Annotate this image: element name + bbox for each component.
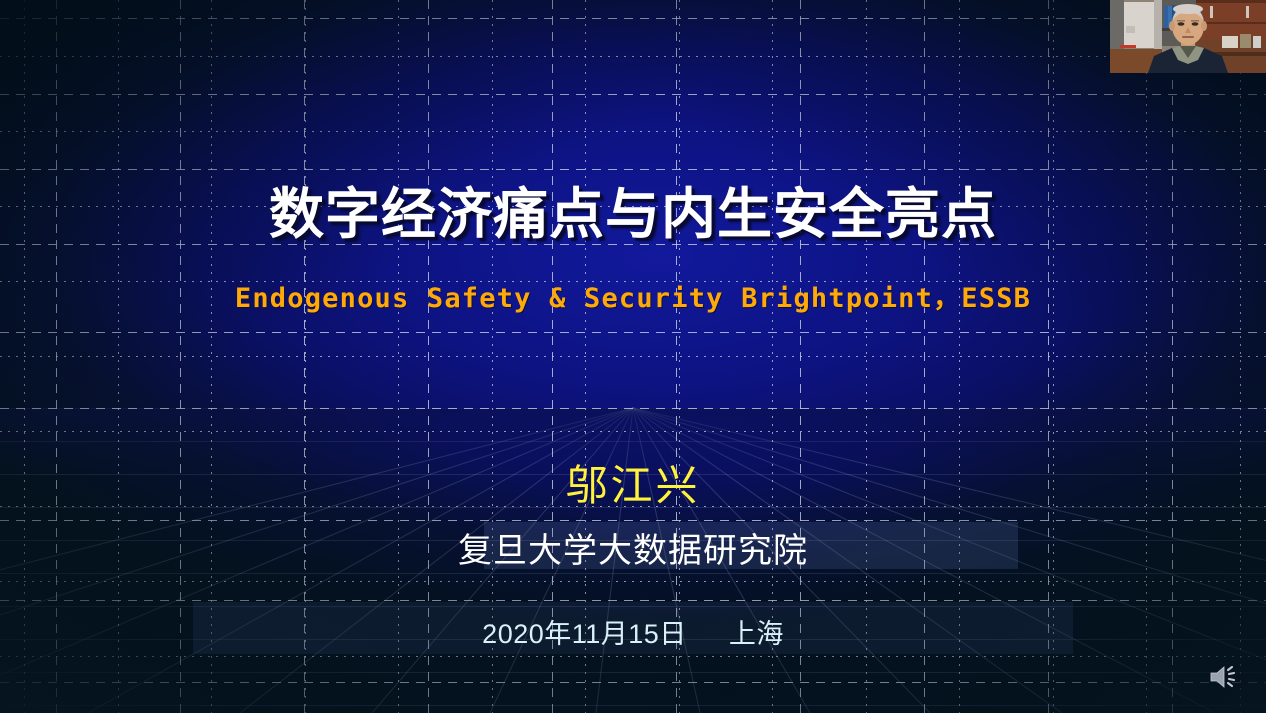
- date-location-line: 2020年11月15日 上海: [0, 612, 1266, 651]
- slide-title-chinese: 数字经济痛点与内生安全亮点: [0, 186, 1266, 244]
- presenter-video-feed[interactable]: [1110, 0, 1266, 73]
- slide-subtitle-english: Endogenous Safety & Security Brightpoint…: [0, 276, 1266, 315]
- author-affiliation: 复旦大学大数据研究院: [0, 523, 1266, 572]
- slide-content: 数字经济痛点与内生安全亮点 Endogenous Safety & Securi…: [0, 0, 1266, 713]
- author-name: 邬江兴: [0, 452, 1266, 513]
- presentation-slide: 数字经济痛点与内生安全亮点 Endogenous Safety & Securi…: [0, 0, 1266, 713]
- speaker-volume-icon[interactable]: [1208, 662, 1242, 692]
- slide-location: 上海: [729, 619, 784, 649]
- slide-date: 2020年11月15日: [482, 619, 687, 649]
